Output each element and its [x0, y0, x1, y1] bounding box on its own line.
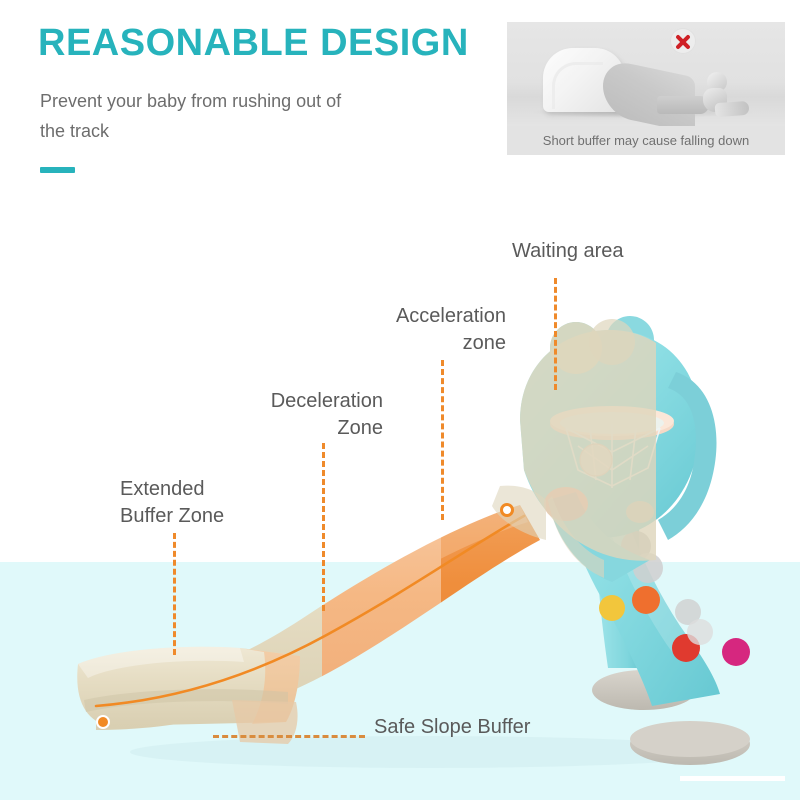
- leader-line-acceleration-zone: [441, 360, 444, 520]
- page-subtitle: Prevent your baby from rushing out of th…: [40, 86, 370, 146]
- inset-child-legs: [715, 101, 750, 117]
- leader-line-waiting-area: [554, 278, 557, 390]
- callout-label-safe-slope-buffer: Safe Slope Buffer: [374, 714, 530, 741]
- waiting-area-overlay: [520, 319, 656, 578]
- inset-caption: Short buffer may cause falling down: [507, 126, 785, 155]
- warning-inset-card: Short buffer may cause falling down: [507, 22, 785, 155]
- leader-line-safe-slope-buffer: [213, 735, 365, 738]
- red-x-icon: [670, 28, 696, 54]
- footer-stripe: [680, 776, 785, 781]
- inset-child-figure: [699, 72, 747, 120]
- callout-label-waiting-area: Waiting area: [512, 238, 624, 265]
- callout-label-extended-buffer-zone: Extended Buffer Zone: [120, 476, 290, 530]
- slope-marker-bottom: [96, 715, 110, 729]
- leader-line-extended-buffer-zone: [173, 533, 176, 655]
- leader-line-deceleration-zone: [322, 443, 325, 611]
- accent-underline: [40, 167, 75, 173]
- callout-label-acceleration-zone: Acceleration zone: [366, 303, 506, 357]
- infographic-canvas: REASONABLE DESIGN Prevent your baby from…: [0, 0, 800, 800]
- inset-product-photo: [507, 22, 785, 126]
- callout-label-deceleration-zone: Deceleration Zone: [243, 388, 383, 442]
- page-title: REASONABLE DESIGN: [38, 22, 469, 65]
- slope-marker-top: [500, 503, 514, 517]
